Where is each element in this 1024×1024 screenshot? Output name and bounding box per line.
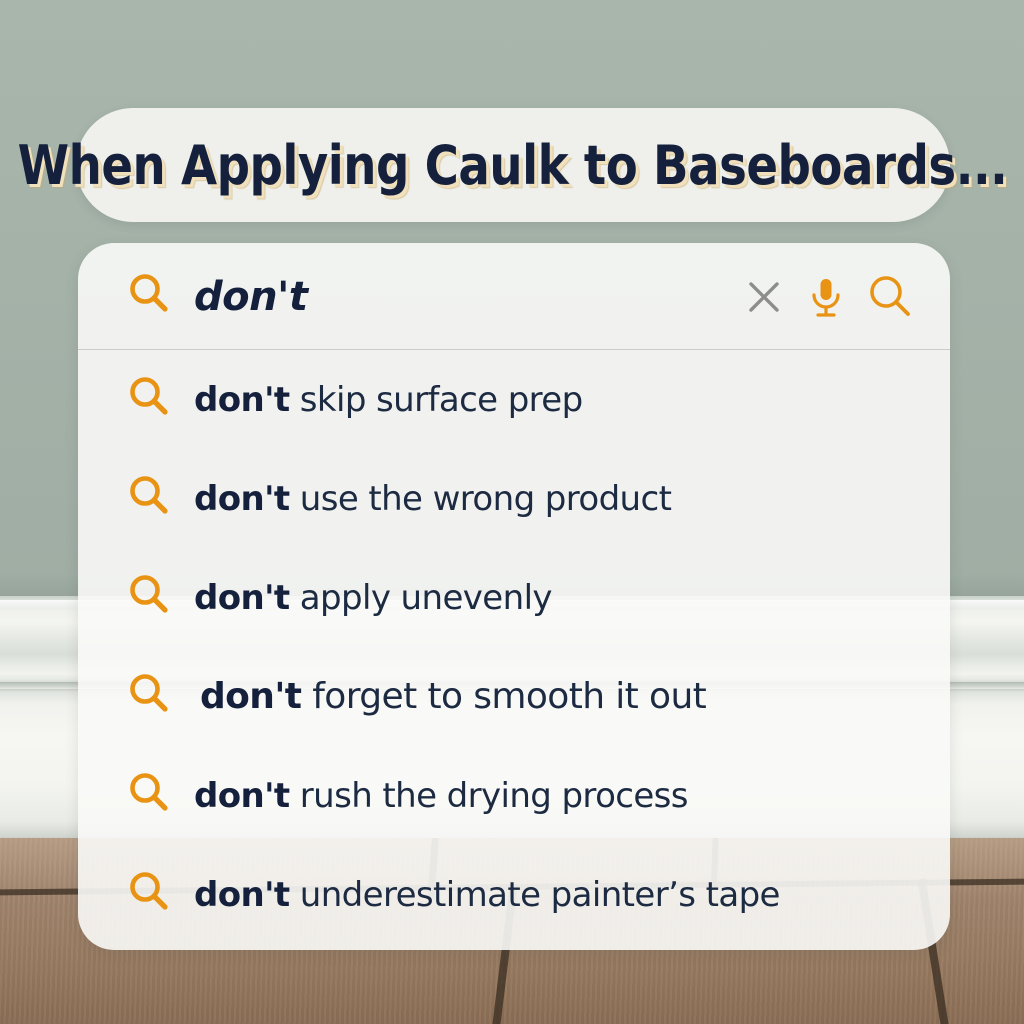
- search-icon: [126, 271, 172, 322]
- page-title: When Applying Caulk to Baseboards...: [18, 134, 1008, 197]
- suggestion-query-prefix: don't: [194, 776, 290, 816]
- search-icon: [126, 572, 172, 623]
- suggestion-completion: use the wrong product: [290, 479, 672, 519]
- list-item[interactable]: don't underestimate painter’s tape: [78, 845, 950, 944]
- search-bar-actions: [742, 273, 914, 321]
- search-icon: [126, 671, 172, 722]
- search-icon: [126, 473, 172, 524]
- suggestion-completion: apply unevenly: [290, 578, 552, 618]
- suggestion-query-prefix: don't: [200, 676, 301, 717]
- list-item[interactable]: don't rush the drying process: [78, 746, 950, 845]
- suggestion-text: don't apply unevenly: [194, 578, 552, 618]
- suggestion-text: don't skip surface prep: [194, 380, 583, 420]
- list-item[interactable]: don't apply unevenly: [78, 548, 950, 647]
- suggestion-text: don't rush the drying process: [194, 776, 688, 816]
- suggestion-completion: forget to smooth it out: [301, 676, 706, 717]
- list-item[interactable]: don't forget to smooth it out: [78, 647, 950, 746]
- suggestion-completion: underestimate painter’s tape: [290, 875, 780, 915]
- clear-icon[interactable]: [742, 275, 786, 319]
- suggestion-text: don't underestimate painter’s tape: [194, 875, 780, 915]
- search-bar[interactable]: don't: [78, 243, 950, 350]
- suggestion-query-prefix: don't: [194, 479, 290, 519]
- search-suggestions-card: don't: [78, 243, 950, 950]
- list-item[interactable]: don't skip surface prep: [78, 350, 950, 449]
- search-icon: [126, 770, 172, 821]
- search-icon: [126, 869, 172, 920]
- suggestion-text: don't forget to smooth it out: [200, 676, 706, 717]
- suggestion-query-prefix: don't: [194, 578, 290, 618]
- suggestion-completion: skip surface prep: [290, 380, 583, 420]
- suggestion-query-prefix: don't: [194, 380, 290, 420]
- suggestion-query-prefix: don't: [194, 875, 290, 915]
- title-banner: When Applying Caulk to Baseboards...: [76, 108, 950, 222]
- search-input-value[interactable]: don't: [194, 274, 307, 320]
- list-item[interactable]: don't use the wrong product: [78, 449, 950, 548]
- suggestion-list: don't skip surface prep don't use the wr…: [78, 350, 950, 944]
- search-icon: [126, 374, 172, 425]
- suggestion-completion: rush the drying process: [290, 776, 688, 816]
- microphone-icon[interactable]: [806, 274, 846, 320]
- search-submit-icon[interactable]: [866, 273, 914, 321]
- poster-canvas: When Applying Caulk to Baseboards... don…: [0, 0, 1024, 1024]
- suggestion-text: don't use the wrong product: [194, 479, 671, 519]
